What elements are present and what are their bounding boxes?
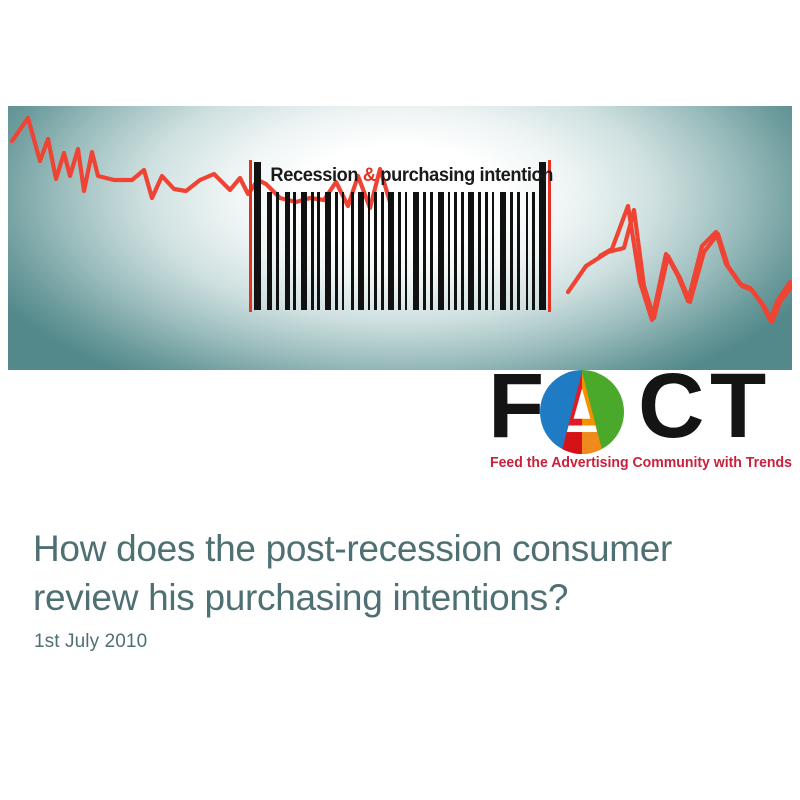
- page-title: How does the post-recession consumer rev…: [33, 524, 763, 622]
- barcode-rail-left-icon: [249, 160, 252, 312]
- page-title-line-2: review his purchasing intentions?: [33, 573, 763, 622]
- page-title-line-1: How does the post-recession consumer: [33, 524, 763, 573]
- hero-banner-image: Recession & purchasing intention: [8, 106, 792, 370]
- logo-letter-t: T: [710, 360, 764, 452]
- barcode-label-ampersand: &: [363, 165, 376, 186]
- chart-line-right: [568, 210, 792, 322]
- logo-letter-c: C: [638, 360, 702, 452]
- barcode-bars: [265, 192, 535, 310]
- logo-letter-f: F: [488, 360, 542, 452]
- page-date: 1st July 2010: [34, 630, 147, 654]
- barcode-graphic: Recession & purchasing intention: [245, 160, 555, 312]
- title-slide: Recession & purchasing intention: [0, 0, 800, 800]
- barcode-label-prefix: Recession: [270, 165, 362, 186]
- logo-circular-a-mark-icon: [540, 370, 624, 454]
- logo-tagline: Feed the Advertising Community with Tren…: [490, 454, 783, 472]
- fact-logo-wordmark: F C T: [488, 366, 792, 454]
- barcode-cap-bar-left: [254, 162, 261, 310]
- barcode-label-suffix: purchasing intention: [376, 165, 553, 186]
- fact-logo: F C T: [488, 366, 792, 478]
- barcode-label: Recession & purchasing intention: [270, 162, 529, 190]
